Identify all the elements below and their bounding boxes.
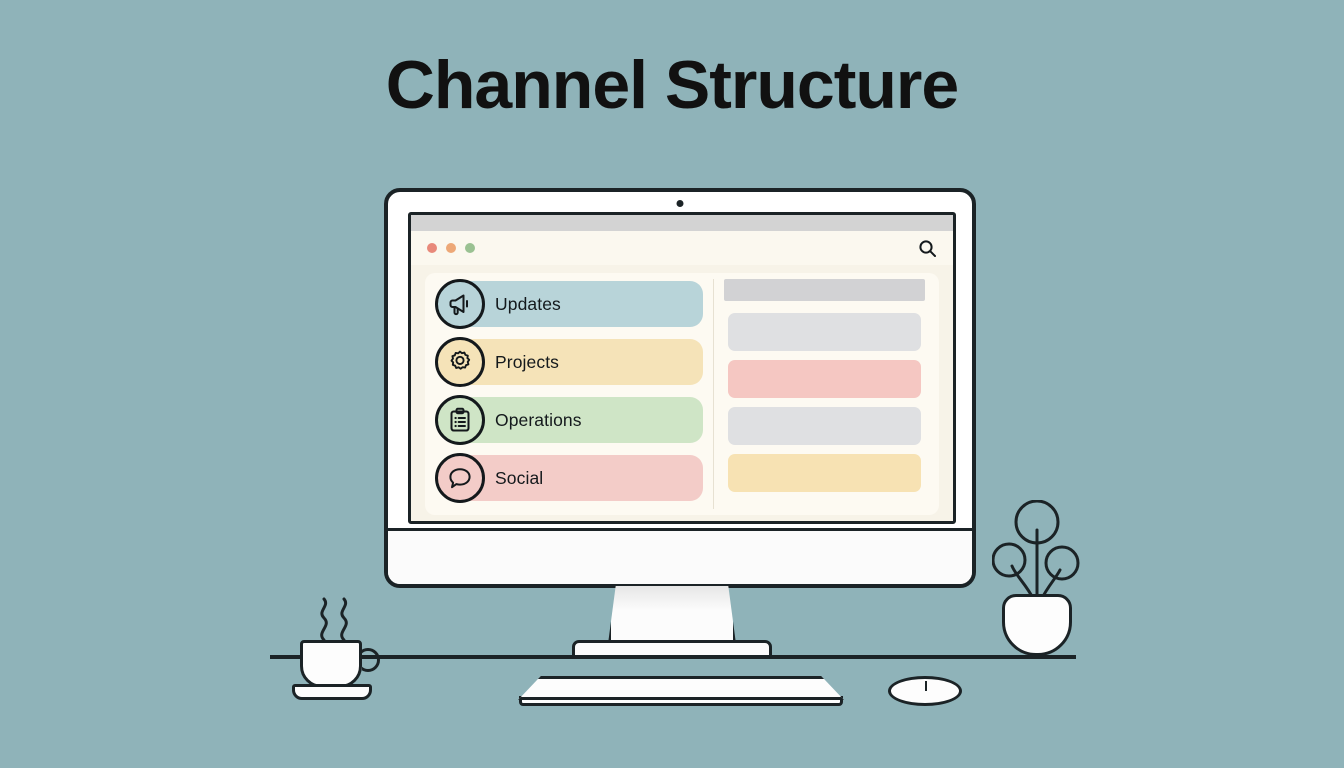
placeholder-card-1[interactable]	[728, 313, 921, 351]
channel-list: Updates Projects	[425, 273, 713, 515]
monitor: Updates Projects	[384, 188, 976, 588]
page-title: Channel Structure	[0, 48, 1344, 123]
channel-label: Updates	[495, 294, 561, 315]
search-icon[interactable]	[918, 239, 937, 258]
browser-toolbar	[411, 231, 953, 265]
clipboard-icon	[435, 395, 485, 445]
mouse-scroll-line	[925, 681, 927, 691]
channel-item-projects[interactable]: Projects	[441, 339, 703, 385]
content-panel	[714, 273, 939, 515]
close-window-button[interactable]	[427, 243, 437, 253]
monitor-chin	[388, 528, 972, 584]
mouse[interactable]	[888, 676, 962, 706]
channel-item-updates[interactable]: Updates	[441, 281, 703, 327]
channel-label: Social	[495, 468, 543, 489]
window-traffic-lights	[427, 243, 475, 253]
channel-item-operations[interactable]: Operations	[441, 397, 703, 443]
webcam-dot	[677, 200, 684, 207]
channel-label: Projects	[495, 352, 559, 373]
gear-icon	[435, 337, 485, 387]
cup-saucer	[292, 684, 372, 700]
app-card: Updates Projects	[425, 273, 939, 515]
keyboard-surface	[518, 676, 844, 700]
placeholder-card-3[interactable]	[728, 407, 921, 445]
megaphone-icon	[435, 279, 485, 329]
potted-plant	[992, 500, 1084, 656]
app-body: Updates Projects	[411, 265, 953, 524]
monitor-stand-neck	[608, 586, 736, 644]
speech-bubble-icon	[435, 453, 485, 503]
placeholder-card-2[interactable]	[728, 360, 921, 398]
placeholder-card-4[interactable]	[728, 454, 921, 492]
steam-icon	[304, 596, 362, 644]
cup-body	[300, 640, 362, 688]
monitor-stand-base	[572, 640, 772, 658]
coffee-cup	[292, 596, 392, 708]
minimize-window-button[interactable]	[446, 243, 456, 253]
browser-titlebar	[411, 215, 953, 231]
content-card-list	[728, 313, 921, 492]
channel-item-social[interactable]: Social	[441, 455, 703, 501]
plant-vase	[1002, 594, 1072, 656]
maximize-window-button[interactable]	[465, 243, 475, 253]
channel-label: Operations	[495, 410, 582, 431]
keyboard[interactable]	[518, 676, 844, 708]
content-header-bar	[724, 279, 925, 301]
illustration-scene: Channel Structure	[0, 0, 1344, 768]
monitor-screen: Updates Projects	[408, 212, 956, 524]
